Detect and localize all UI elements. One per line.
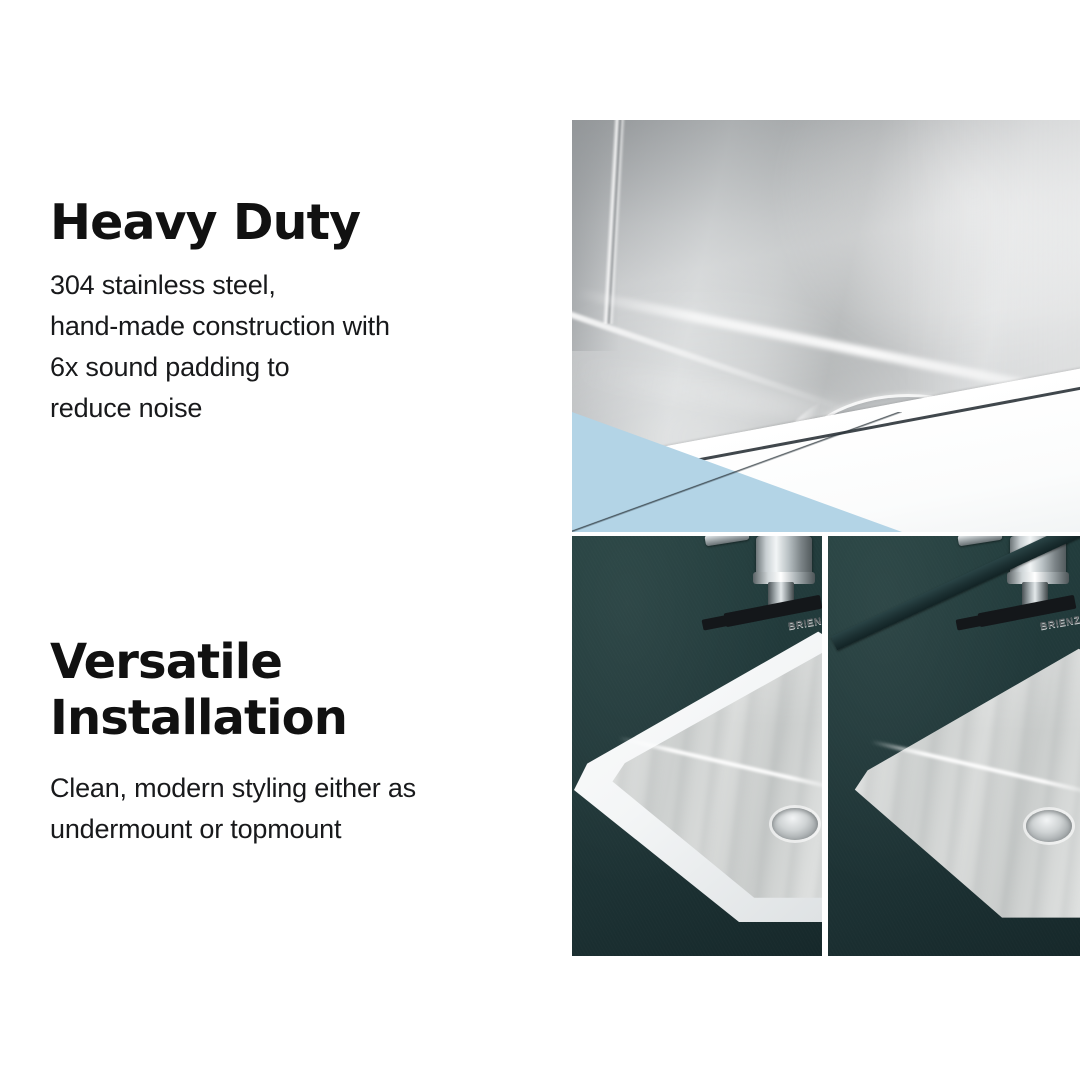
feature-body-versatile-installation: Clean, modern styling either as undermou… (50, 768, 550, 850)
feature-heading-heavy-duty: Heavy Duty (50, 196, 550, 251)
feature-body-heavy-duty: 304 stainless steel, hand-made construct… (50, 265, 550, 429)
sink-undermount-assembly: BRIENZ (828, 536, 1080, 956)
brand-label-topmount: BRIENZ (787, 615, 822, 633)
feature-block-heavy-duty: Heavy Duty 304 stainless steel, hand-mad… (50, 196, 550, 429)
accent-blue-wedge-edge (572, 412, 902, 532)
feature-text-column: Heavy Duty 304 stainless steel, hand-mad… (0, 0, 560, 1080)
photo-undermount-installation: BRIENZ (828, 536, 1080, 956)
feature-heading-versatile-installation: Versatile Installation (50, 634, 550, 746)
brand-label-undermount: BRIENZ (1039, 615, 1080, 633)
product-feature-panel: Heavy Duty 304 stainless steel, hand-mad… (0, 0, 1080, 1080)
feature-block-versatile-installation: Versatile Installation Clean, modern sty… (50, 634, 550, 850)
sink-topmount-assembly: BRIENZ (572, 536, 822, 956)
bowl-drain-opening (772, 808, 818, 840)
photo-sink-basin-closeup (572, 120, 1080, 532)
benchtop-overhang-lip (831, 536, 1080, 650)
bowl-drain-opening (1026, 810, 1072, 842)
photo-topmount-installation: BRIENZ (572, 536, 822, 956)
